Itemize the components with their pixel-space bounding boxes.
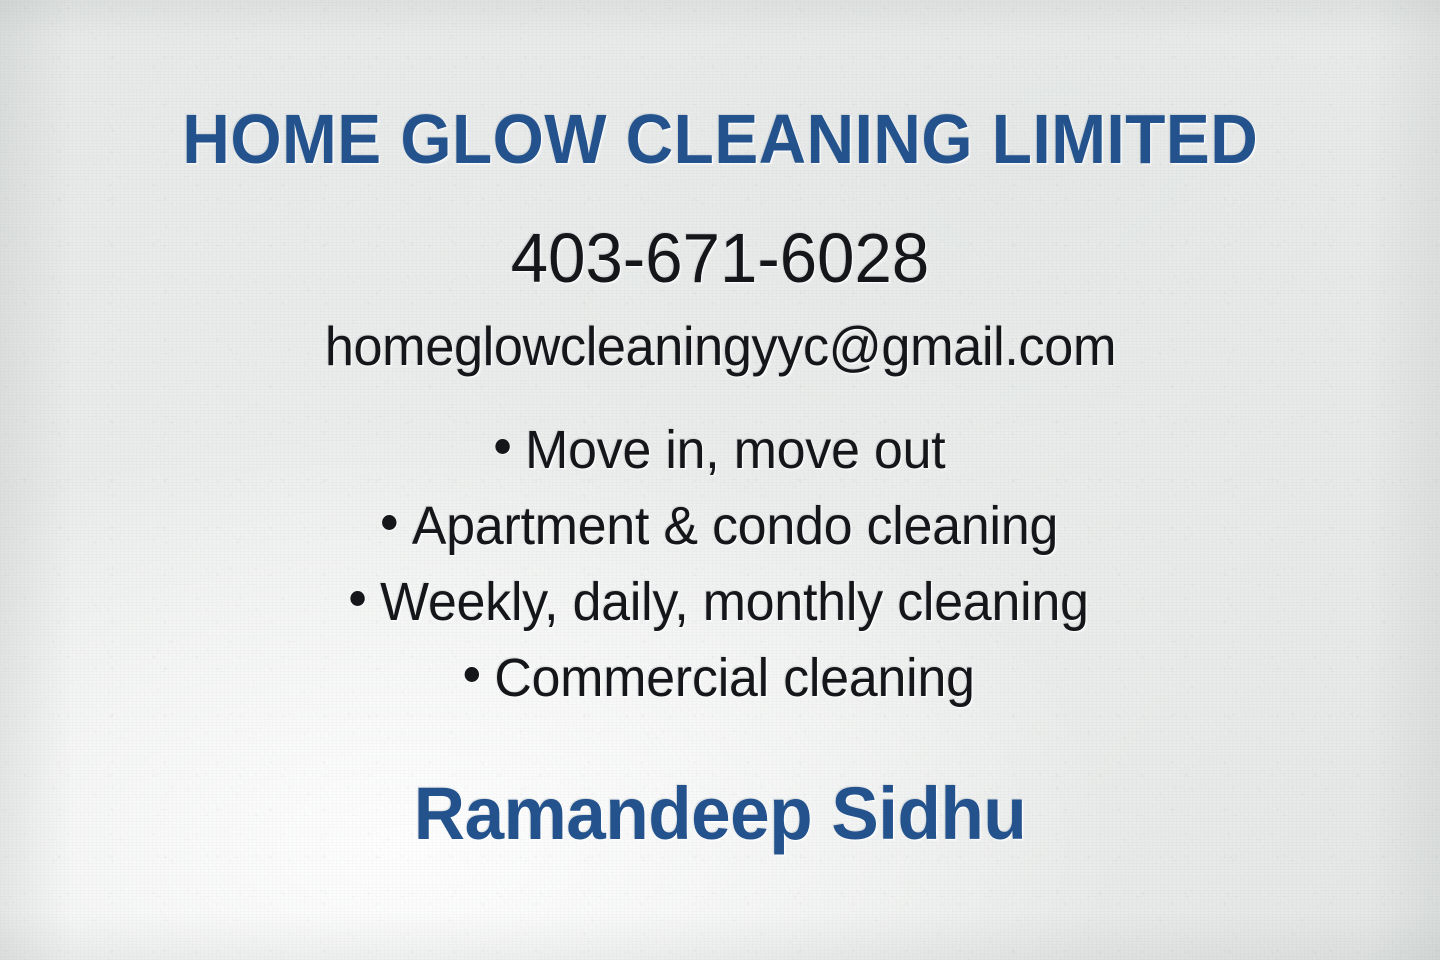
contact-person-name: Ramandeep Sidhu [414, 777, 1027, 851]
service-label: Commercial cleaning [495, 651, 975, 705]
service-label: Apartment & condo cleaning [412, 499, 1058, 553]
card-content: HOME GLOW CLEANING LIMITED 403-671-6028 … [0, 0, 1440, 960]
service-label: Move in, move out [525, 423, 945, 477]
bullet-point-icon [382, 515, 396, 530]
service-list-item: Apartment & condo cleaning [382, 499, 1058, 553]
bullet-point-icon [465, 667, 479, 682]
service-label: Weekly, daily, monthly cleaning [381, 575, 1090, 629]
company-name: HOME GLOW CLEANING LIMITED [182, 104, 1258, 174]
business-card: HOME GLOW CLEANING LIMITED 403-671-6028 … [0, 0, 1440, 960]
bullet-point-icon [495, 439, 509, 454]
email-address: homeglowcleaningyyc@gmail.com [324, 319, 1115, 374]
services-list: Move in, move out Apartment & condo clea… [335, 423, 1104, 705]
service-list-item: Commercial cleaning [465, 651, 975, 705]
service-list-item: Move in, move out [495, 423, 945, 477]
bullet-point-icon [351, 591, 365, 606]
phone-number: 403-671-6028 [511, 223, 930, 293]
service-list-item: Weekly, daily, monthly cleaning [351, 575, 1089, 629]
